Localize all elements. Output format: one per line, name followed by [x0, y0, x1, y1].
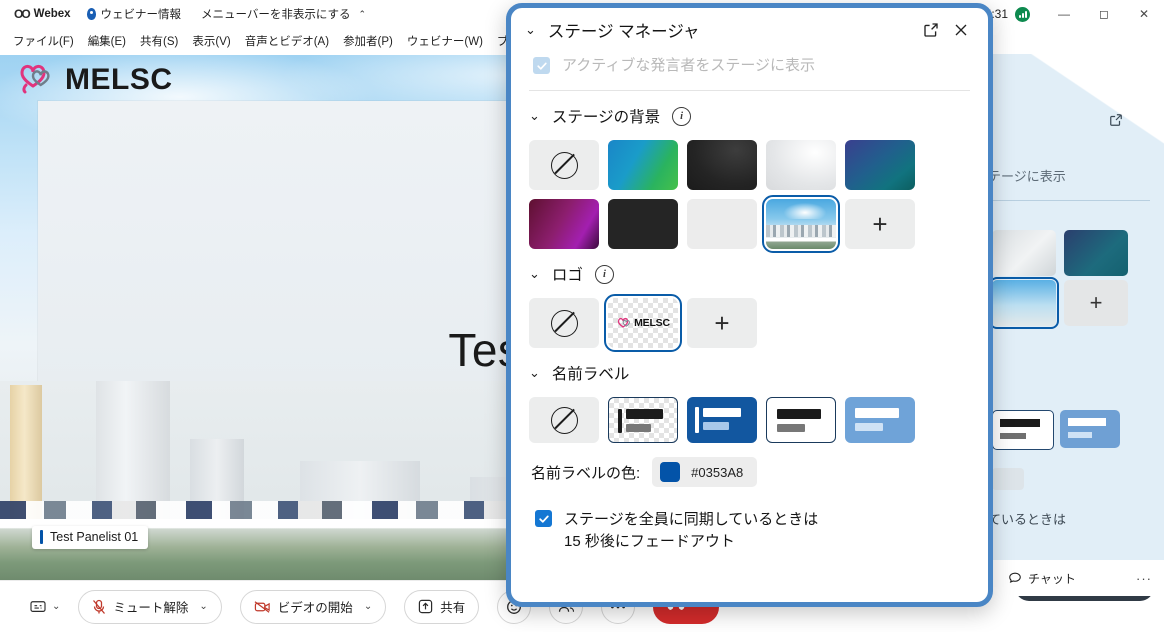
background-option-blue-green-gradient[interactable]: [608, 140, 678, 190]
titlebar-right-group: 05:31 — ◻ ✕: [978, 0, 1164, 28]
webinar-info-button[interactable]: ウェビナー情報: [77, 5, 192, 23]
background-option-magenta-purple-gradient[interactable]: [529, 199, 599, 249]
background-thumb-ghost-selected[interactable]: [992, 280, 1056, 326]
menu-audio-video[interactable]: 音声とビデオ(A): [238, 31, 336, 51]
more-options-icon[interactable]: ···: [1136, 571, 1152, 586]
background-option-solid-white[interactable]: [687, 199, 757, 249]
logo-option-add[interactable]: +: [687, 298, 757, 348]
color-hex-value: #0353A8: [691, 465, 743, 480]
webinar-info-label: ウェビナー情報: [101, 6, 182, 22]
background-option-city-photo[interactable]: [766, 199, 836, 249]
menu-file[interactable]: ファイル(F): [6, 31, 81, 51]
chevron-up-icon: ⌃: [359, 9, 367, 20]
name-label-color-caption: 名前ラベルの色:: [531, 462, 640, 483]
chevron-down-icon[interactable]: ⌄: [364, 601, 372, 612]
name-label-option-light-accent-left[interactable]: [608, 397, 678, 443]
chat-tab[interactable]: チャット: [1008, 570, 1076, 587]
name-label-thumb-ghost[interactable]: [992, 410, 1054, 450]
background-thumb-ghost[interactable]: [1064, 230, 1128, 276]
unmute-label: ミュート解除: [113, 597, 188, 616]
chevron-down-icon[interactable]: ⌄: [199, 601, 207, 612]
melsc-heart-icon: [16, 63, 56, 97]
cloud: [784, 203, 826, 219]
background-add-ghost[interactable]: +: [1064, 280, 1128, 326]
background-option-light-grey-curve[interactable]: [766, 140, 836, 190]
webex-logo-icon: OO: [14, 7, 29, 21]
background-option-solid-black[interactable]: [608, 199, 678, 249]
background-option-navy-teal-gradient[interactable]: [845, 140, 915, 190]
background-section-header[interactable]: ⌄ ステージの背景 i: [529, 105, 970, 127]
dialog-divider: [529, 90, 970, 91]
background-options-grid: +: [529, 140, 970, 249]
webex-app-badge: OO Webex: [8, 5, 77, 23]
right-panel-text-fragment-1: テージに表示: [988, 166, 1066, 185]
plus-icon: +: [714, 310, 729, 336]
background-option-none[interactable]: [529, 140, 599, 190]
background-thumb-ghost[interactable]: [992, 230, 1056, 276]
close-window-button[interactable]: ✕: [1124, 0, 1164, 28]
chat-tab-label: チャット: [1028, 570, 1076, 587]
network-status-icon[interactable]: [1015, 7, 1030, 22]
color-swatch[interactable]: [660, 462, 680, 482]
menu-webinar[interactable]: ウェビナー(W): [400, 31, 490, 51]
stage-brand-text: MELSC: [65, 63, 173, 97]
name-label-option-none[interactable]: [529, 397, 599, 443]
active-speaker-label: アクティブな発言者をステージに表示: [562, 56, 815, 76]
chevron-down-icon[interactable]: ⌄: [529, 365, 540, 381]
right-panel-chat-bar: チャット ···: [984, 560, 1164, 596]
webinar-info-icon: [87, 8, 96, 20]
logo-option-melsc[interactable]: MELSC: [608, 298, 678, 348]
name-label-color-picker[interactable]: #0353A8: [652, 457, 757, 487]
color-swatch-ghost[interactable]: [992, 468, 1024, 490]
fade-option-label: ステージを全員に同期しているときは 15 秒後にフェードアウト: [564, 509, 818, 553]
chevron-down-icon[interactable]: ⌄: [52, 601, 60, 612]
plus-icon: +: [872, 211, 887, 237]
maximize-button[interactable]: ◻: [1084, 0, 1124, 28]
chevron-down-icon[interactable]: ⌄: [529, 108, 540, 124]
melsc-heart-icon: [616, 317, 631, 330]
background-section-title: ステージの背景: [552, 105, 660, 127]
start-video-button[interactable]: ビデオの開始 ⌄: [240, 590, 386, 624]
start-video-label: ビデオの開始: [278, 597, 353, 616]
menu-edit[interactable]: 編集(E): [81, 31, 133, 51]
chevron-down-icon[interactable]: ⌄: [525, 22, 536, 38]
share-icon: [418, 599, 433, 614]
background-option-add[interactable]: +: [845, 199, 915, 249]
mic-muted-icon: [92, 599, 106, 615]
fade-option-row[interactable]: ステージを全員に同期しているときは 15 秒後にフェードアウト: [529, 505, 970, 567]
stage-brand-logo: MELSC: [16, 63, 173, 97]
captions-icon: [30, 600, 46, 614]
ground: [766, 238, 836, 249]
share-label: 共有: [440, 597, 465, 616]
titlebar-left-group: OO Webex ウェビナー情報 メニューバーを非表示にする ⌃: [8, 5, 376, 23]
captions-button[interactable]: ⌄: [30, 600, 60, 614]
logo-options-grid: MELSC +: [529, 298, 970, 348]
minimize-button[interactable]: —: [1044, 0, 1084, 28]
dialog-header: ⌄ ステージ マネージャ: [511, 8, 988, 52]
info-icon[interactable]: i: [672, 107, 691, 126]
participant-name-label: Test Panelist 01: [32, 526, 148, 549]
name-label-option-light-plain[interactable]: [766, 397, 836, 443]
name-label-color-row: 名前ラベルの色: #0353A8: [531, 457, 970, 487]
logo-section-header[interactable]: ⌄ ロゴ i: [529, 263, 970, 285]
menu-participants[interactable]: 参加者(P): [336, 31, 400, 51]
hide-menubar-button[interactable]: メニューバーを非表示にする ⌃: [191, 5, 376, 23]
logo-section-title: ロゴ: [552, 263, 583, 285]
webex-app-name: Webex: [34, 8, 71, 20]
fade-option-line2: 15 秒後にフェードアウト: [564, 533, 735, 550]
close-icon[interactable]: [946, 15, 976, 45]
chevron-down-icon[interactable]: ⌄: [529, 266, 540, 282]
dialog-body: アクティブな発言者をステージに表示 ⌄ ステージの背景 i: [511, 52, 988, 567]
menu-share[interactable]: 共有(S): [133, 31, 185, 51]
info-icon[interactable]: i: [595, 265, 614, 284]
name-label-text: Test Panelist 01: [50, 530, 138, 544]
name-label-accent-bar: [40, 530, 43, 544]
logo-option-label: MELSC: [634, 317, 670, 329]
name-label-section-header[interactable]: ⌄ 名前ラベル: [529, 362, 970, 384]
name-label-section-title: 名前ラベル: [552, 362, 630, 384]
name-label-thumb-ghost[interactable]: [1060, 410, 1120, 448]
name-label-option-solid-blue[interactable]: [687, 397, 757, 443]
share-button[interactable]: 共有: [404, 590, 479, 624]
name-label-option-soft-blue[interactable]: [845, 397, 915, 443]
dialog-title: ステージ マネージャ: [548, 18, 916, 42]
menu-view[interactable]: 表示(V): [185, 31, 237, 51]
fade-option-checkbox[interactable]: [535, 510, 552, 527]
logo-option-none[interactable]: [529, 298, 599, 348]
background-option-dark-charcoal-curve[interactable]: [687, 140, 757, 190]
pop-out-icon[interactable]: [916, 15, 946, 45]
no-background-icon: [551, 152, 578, 179]
active-speaker-row[interactable]: アクティブな発言者をステージに表示: [529, 52, 970, 90]
skyline: [766, 225, 836, 237]
chat-bubble-icon: [1008, 571, 1022, 585]
active-speaker-checkbox[interactable]: [533, 57, 550, 74]
no-logo-icon: [551, 310, 578, 337]
video-off-icon: [254, 600, 271, 614]
name-label-options-grid: [529, 397, 970, 443]
right-panel-divider: [984, 200, 1150, 201]
stage-manager-dialog: ⌄ ステージ マネージャ アクティブな発言者をステージに表示 ⌄ ステージの背景: [506, 3, 993, 607]
hide-menubar-label: メニューバーを非表示にする: [201, 6, 351, 22]
fade-option-line1: ステージを全員に同期しているときは: [564, 511, 818, 528]
unmute-button[interactable]: ミュート解除 ⌄: [78, 590, 221, 624]
no-name-label-icon: [551, 407, 578, 434]
right-panel-text-fragment-2: ているときは: [988, 509, 1066, 528]
